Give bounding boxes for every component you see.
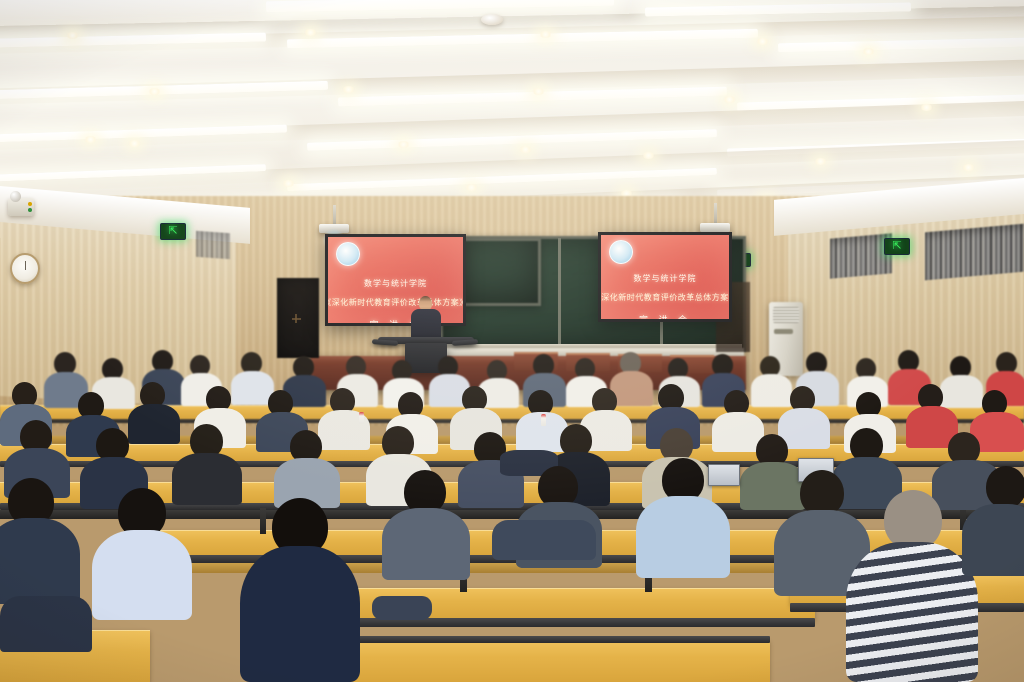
downlight	[66, 32, 79, 39]
ceiling-projector	[700, 223, 730, 232]
desk-surface	[300, 640, 770, 682]
downlight	[304, 29, 317, 36]
downlight	[397, 141, 410, 148]
ceiling-led-strip	[778, 37, 1024, 53]
draped-jacket	[0, 596, 92, 652]
downlight	[962, 164, 975, 171]
downlight	[539, 31, 552, 38]
downlight	[465, 184, 478, 191]
downlight	[148, 88, 161, 95]
slide-line-3: 宣 讲 会	[639, 313, 691, 319]
water-bottle	[541, 414, 546, 426]
water-bottle	[359, 412, 364, 424]
projector-mount-pole	[333, 205, 336, 225]
lecture-hall-photo: ⇱ ⇱ ⇱ 数学与统计学院 《深化新时代教育评价改革总体方案》 宣 讲 会 二〇…	[0, 0, 1024, 682]
window-curtain	[925, 224, 1024, 281]
left-projection-screen: 数学与统计学院 《深化新时代教育评价改革总体方案》 宣 讲 会 二〇二一年九月二…	[325, 234, 466, 326]
university-emblem-icon	[609, 240, 633, 264]
exit-sign: ⇱	[884, 238, 910, 255]
desk-edge	[300, 636, 770, 643]
slide-line-2: 《深化新时代教育评价改革总体方案》	[328, 297, 463, 308]
slide-line-1: 数学与统计学院	[364, 278, 427, 289]
downlight	[519, 146, 532, 153]
wall-speaker-device	[8, 198, 34, 216]
draped-jacket	[492, 520, 596, 560]
exit-sign: ⇱	[160, 223, 186, 240]
downlight	[532, 88, 545, 95]
downlight	[84, 136, 97, 143]
seat-divider	[260, 508, 266, 534]
laptop[interactable]	[708, 464, 740, 486]
slide-line-1: 数学与统计学院	[634, 273, 697, 284]
downlight	[723, 96, 736, 103]
wall-clock	[10, 253, 40, 284]
window-curtain	[196, 231, 230, 259]
downlight	[756, 38, 769, 45]
exit-sign-glyph: ⇱	[168, 226, 177, 237]
window-curtain	[830, 233, 892, 278]
slide-line-2: 《深化新时代教育评价改革总体方案》	[601, 292, 729, 303]
projector-mount-pole	[714, 203, 717, 224]
bag-on-desk	[372, 596, 432, 620]
downlight	[814, 158, 827, 165]
blackboard-panel	[455, 238, 541, 306]
downlight	[862, 48, 875, 55]
downlight	[642, 152, 655, 159]
downlight	[920, 104, 933, 111]
university-emblem-icon	[336, 242, 360, 266]
door-handle[interactable]	[295, 314, 297, 323]
exit-sign-glyph: ⇱	[892, 241, 901, 252]
downlight	[342, 86, 355, 93]
downlight	[128, 140, 141, 147]
downlight	[282, 180, 295, 187]
presenter-torso	[411, 309, 441, 339]
blackboard-divider	[558, 238, 561, 344]
right-projection-screen: 数学与统计学院 《深化新时代教育评价改革总体方案》 宣 讲 会 二〇二一年九月二…	[598, 232, 732, 322]
smoke-detector-icon	[481, 14, 503, 25]
